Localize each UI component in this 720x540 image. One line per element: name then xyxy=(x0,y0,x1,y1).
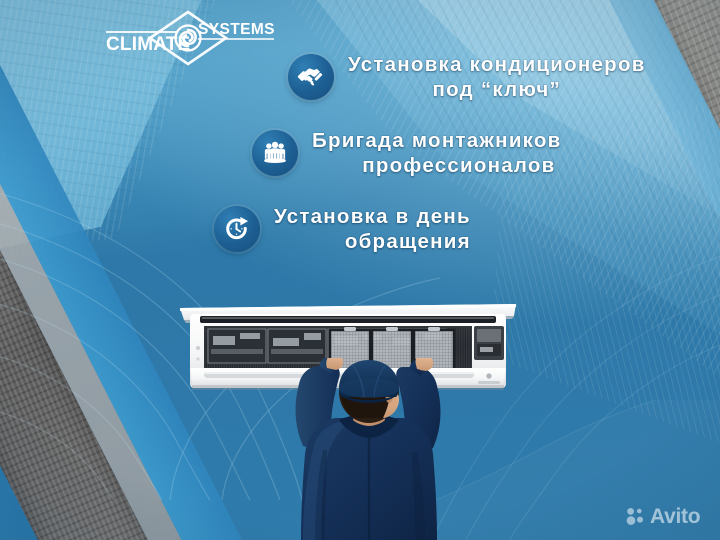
avito-watermark-label: Avito xyxy=(650,506,700,527)
feature-line-1: Установка кондиционеров xyxy=(348,53,646,76)
group-of-people-icon xyxy=(252,130,298,176)
promo-banner: CLIMATE SYSTEMS xyxy=(0,0,720,540)
feature-line-2: профессионалов xyxy=(312,153,562,178)
feature-text-same-day-installation: Установка в день обращения xyxy=(274,204,471,254)
feature-row-turnkey-installation: Установка кондиционеров под “ключ” xyxy=(288,52,646,102)
avito-dots-icon xyxy=(625,506,645,526)
feature-line-1: Установка в день xyxy=(274,205,471,228)
logo-word-climate: CLIMATE xyxy=(106,34,190,55)
brand-logo: CLIMATE SYSTEMS xyxy=(100,6,280,70)
feature-line-2: обращения xyxy=(274,229,471,254)
feature-line-1: Бригада монтажников xyxy=(312,129,562,152)
logo-word-systems: SYSTEMS xyxy=(198,21,275,38)
installer-worker xyxy=(243,358,493,540)
feature-text-turnkey-installation: Установка кондиционеров под “ключ” xyxy=(348,52,646,102)
handshake-icon xyxy=(288,54,334,100)
feature-text-professional-crew: Бригада монтажников профессионалов xyxy=(312,128,562,178)
feature-line-2: под “ключ” xyxy=(348,77,646,102)
avito-watermark: Avito xyxy=(625,503,709,529)
feature-row-professional-crew: Бригада монтажников профессионалов xyxy=(252,128,562,178)
feature-row-same-day-installation: Установка в день обращения xyxy=(214,204,471,254)
clock-fast-forward-icon xyxy=(214,206,260,252)
